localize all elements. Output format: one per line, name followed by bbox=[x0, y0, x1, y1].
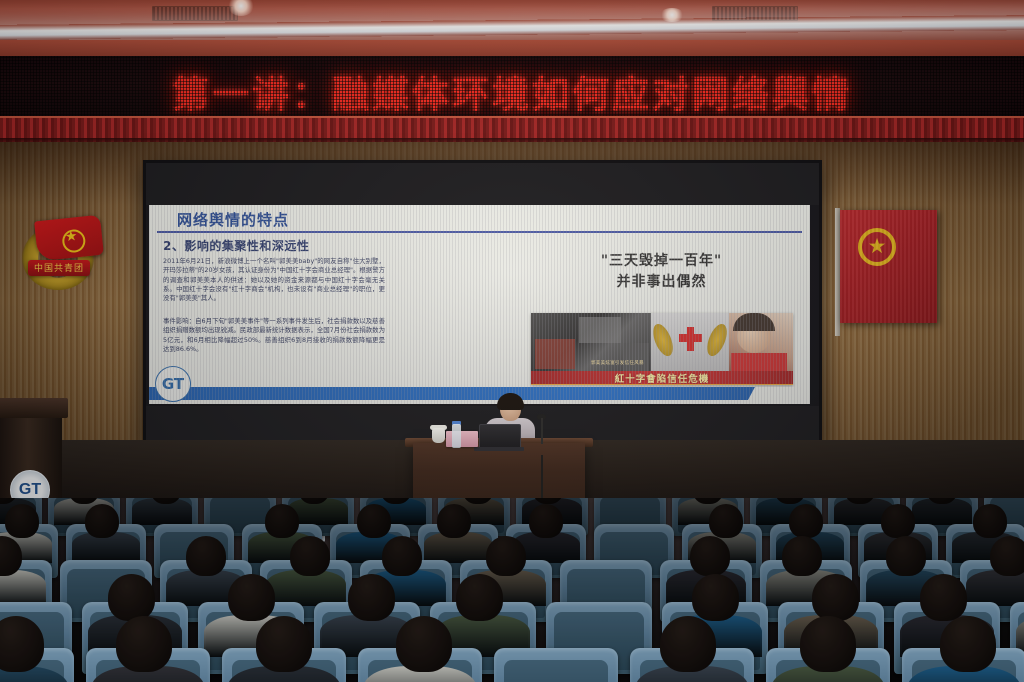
laptop-base bbox=[474, 447, 524, 451]
audience-member-head bbox=[940, 616, 996, 672]
audience-member-head bbox=[886, 536, 926, 576]
presentation-slide: 网络舆情的特点 2、影响的集聚性和深远性 2011年6月21日，新浪微博上一个名… bbox=[149, 205, 810, 404]
audience-member-head bbox=[186, 536, 226, 576]
audience-member-head bbox=[437, 504, 471, 538]
audience-member-head bbox=[660, 616, 716, 672]
news-lower-third bbox=[531, 384, 793, 385]
communist-youth-league-flag: ★ bbox=[840, 210, 937, 323]
wreath-left-icon bbox=[649, 321, 677, 359]
audience-member-head bbox=[990, 536, 1024, 576]
star-icon bbox=[61, 228, 86, 253]
seat-cushion bbox=[504, 660, 608, 682]
audience-member-head bbox=[256, 616, 312, 672]
led-banner-text: 第一讲：融媒体环境如何应对网络舆情 bbox=[0, 64, 1024, 118]
nameplate bbox=[446, 431, 478, 447]
audience-member-head bbox=[108, 574, 155, 621]
portrait-hair bbox=[733, 313, 775, 331]
red-flag-icon bbox=[34, 215, 104, 262]
news-portrait bbox=[729, 313, 793, 375]
audience-member-head bbox=[357, 504, 391, 538]
tea-cup bbox=[432, 428, 445, 443]
audience-member-head bbox=[789, 504, 823, 538]
audience-member-head bbox=[920, 574, 967, 621]
audience-member-head bbox=[396, 616, 452, 672]
audience-member-head bbox=[5, 504, 39, 538]
speaker-hair bbox=[497, 393, 524, 410]
news-subcaption: 郭美美炫富引发信任风暴 bbox=[591, 360, 644, 366]
red-cross-logo-panel bbox=[651, 313, 729, 375]
water-bottle bbox=[452, 424, 461, 448]
slide-paragraph-2: 事件影响：自6月下旬"郭美美事件"等一系列事件发生后，社会捐款数以及慈善组织捐赠… bbox=[163, 317, 385, 354]
audience-member-head bbox=[486, 536, 526, 576]
audience-member-head bbox=[782, 536, 822, 576]
audience-member-head bbox=[265, 504, 299, 538]
led-banner: 第一讲：融媒体环境如何应对网络舆情 bbox=[0, 56, 1024, 118]
red-cross-icon-bar bbox=[679, 334, 702, 342]
news-screenshot-image: 郭美美炫富引发信任风暴 紅十字會陷信任危機 bbox=[531, 313, 793, 385]
news-thumb bbox=[535, 339, 575, 369]
audience-member-head bbox=[348, 574, 395, 621]
audience-member-head bbox=[382, 536, 422, 576]
news-caption-bar: 郭美美炫富引发信任风暴 紅十字會陷信任危機 bbox=[531, 371, 793, 385]
audience-area bbox=[0, 498, 1024, 682]
university-seal-logo: GT bbox=[155, 366, 191, 402]
wreath-right-icon bbox=[703, 321, 731, 359]
audience-member-head bbox=[973, 504, 1007, 538]
slide-paragraph-1: 2011年6月21日，新浪微博上一个名叫"郭美美baby"的网友自称"住大别墅，… bbox=[163, 257, 385, 303]
slide-subtitle: 2、影响的集聚性和深远性 bbox=[163, 237, 309, 254]
slide-title-rule bbox=[157, 231, 802, 233]
university-seal-text: GT bbox=[162, 375, 184, 393]
slide-title: 网络舆情的特点 bbox=[177, 209, 289, 230]
audience-member-head bbox=[800, 616, 856, 672]
screen-letterbox-top bbox=[146, 163, 819, 205]
audience-member-head bbox=[529, 504, 563, 538]
audience-member-head bbox=[456, 574, 503, 621]
ceiling-downlight-icon bbox=[228, 0, 254, 16]
audience-member-head bbox=[228, 574, 275, 621]
news-thumb bbox=[579, 317, 621, 343]
emblem-ribbon-text: 中国共青团 bbox=[28, 261, 90, 274]
communist-youth-league-emblem-icon: 中国共青团 bbox=[18, 212, 110, 292]
ceiling-vent-icon bbox=[152, 6, 238, 21]
star-in-circle-icon: ★ bbox=[858, 228, 896, 266]
news-caption-text: 紅十字會陷信任危機 bbox=[531, 371, 793, 385]
slide-footer-bar bbox=[149, 387, 810, 400]
news-thumb bbox=[623, 343, 649, 371]
slide-right-heading-line2: 并非事出偶然 bbox=[519, 272, 804, 293]
audience-member-head bbox=[116, 616, 172, 672]
audience-member-head bbox=[690, 536, 730, 576]
auditorium-seat bbox=[494, 648, 618, 682]
slide-right-heading-line1: "三天毁掉一百年" bbox=[519, 251, 804, 272]
audience-member-head bbox=[812, 574, 859, 621]
audience-member-head bbox=[709, 504, 743, 538]
slide-footer-bar-cut bbox=[748, 387, 810, 400]
audience-member-head bbox=[881, 504, 915, 538]
audience-member-head bbox=[290, 536, 330, 576]
lectern-seal-text: GT bbox=[19, 481, 41, 499]
microphone-stem bbox=[541, 418, 543, 444]
lectern-top bbox=[0, 398, 68, 418]
audience-member-head bbox=[692, 574, 739, 621]
lecture-hall-scene: 第一讲：融媒体环境如何应对网络舆情 中国共青团 ★ 网络舆情的特点 2、影响的集… bbox=[0, 0, 1024, 682]
flag-star-glyph: ★ bbox=[868, 236, 887, 257]
emblem-ribbon: 中国共青团 bbox=[28, 260, 90, 276]
slide-right-heading: "三天毁掉一百年" 并非事出偶然 bbox=[519, 251, 804, 293]
audience-member-head bbox=[85, 504, 119, 538]
